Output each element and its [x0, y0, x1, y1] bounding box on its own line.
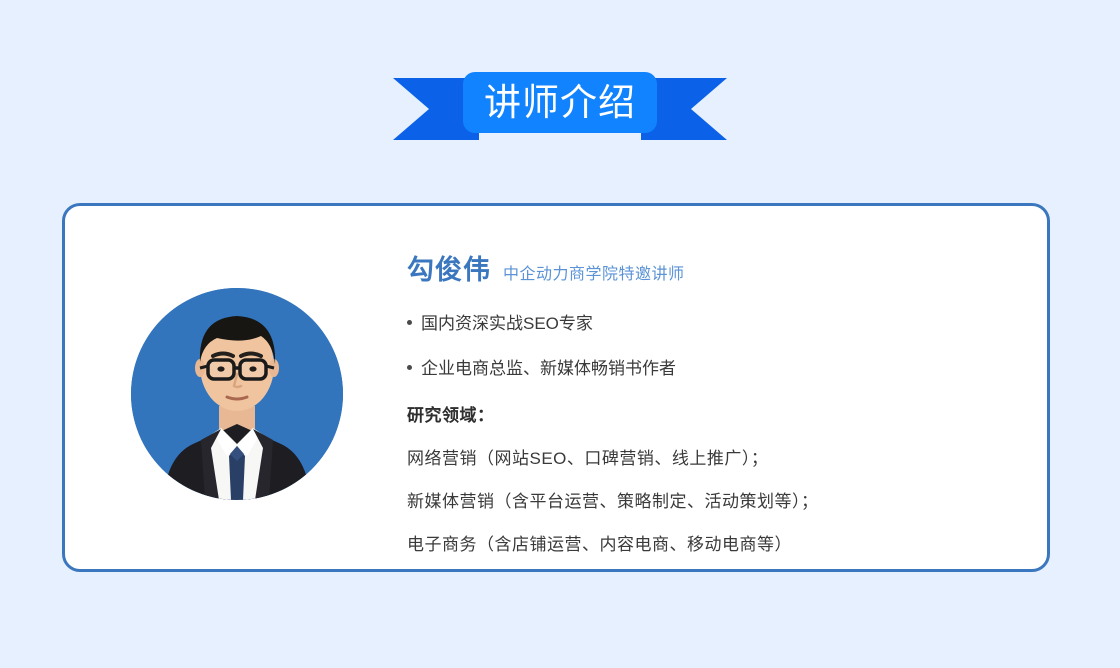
section-banner: 讲师介绍 — [393, 72, 727, 142]
avatar-portrait-icon — [131, 288, 343, 500]
list-item-label: 企业电商总监、新媒体畅销书作者 — [421, 354, 676, 379]
list-item: 企业电商总监、新媒体畅销书作者 — [407, 354, 1017, 379]
instructor-card: 勾俊伟 中企动力商学院特邀讲师 国内资深实战SEO专家 企业电商总监、新媒体畅销… — [62, 203, 1050, 572]
research-item: 网络营销（网站SEO、口碑营销、线上推广）； — [407, 444, 1017, 469]
avatar — [131, 288, 343, 500]
instructor-name: 勾俊伟 — [407, 248, 491, 287]
instructor-subtitle: 中企动力商学院特邀讲师 — [503, 260, 685, 284]
research-item: 电子商务（含店铺运营、内容电商、移动电商等） — [407, 530, 1017, 555]
list-item: 国内资深实战SEO专家 — [407, 309, 1017, 334]
instructor-info: 勾俊伟 中企动力商学院特邀讲师 国内资深实战SEO专家 企业电商总监、新媒体畅销… — [407, 248, 1017, 555]
section-title: 讲师介绍 — [484, 84, 636, 121]
research-item: 新媒体营销（含平台运营、策略制定、活动策划等）； — [407, 487, 1017, 512]
bullet-dot-icon — [407, 320, 412, 325]
list-item-label: 国内资深实战SEO专家 — [421, 309, 593, 334]
bullet-dot-icon — [407, 365, 412, 370]
ribbon-center: 讲师介绍 — [463, 72, 657, 133]
instructor-name-row: 勾俊伟 中企动力商学院特邀讲师 — [407, 248, 1017, 287]
research-heading: 研究领域： — [407, 401, 1017, 426]
